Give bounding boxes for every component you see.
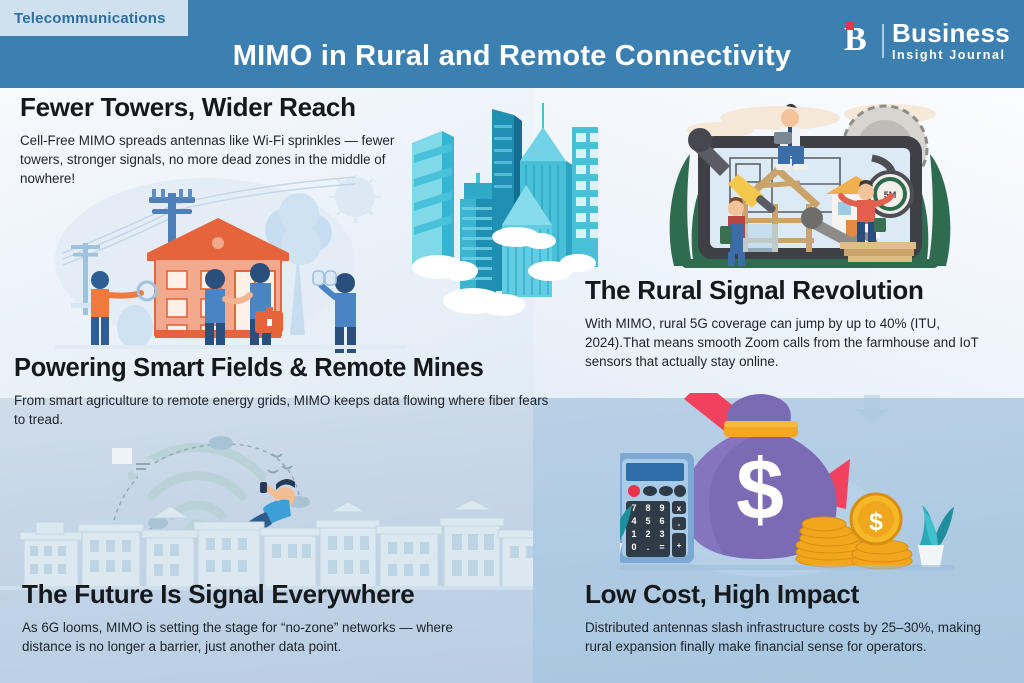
- svg-text:3: 3: [659, 529, 664, 539]
- svg-text:=: =: [659, 542, 664, 552]
- section-low-cost-high-impact: Low Cost, High Impact Distributed antenn…: [585, 580, 1005, 656]
- section-heading: Low Cost, High Impact: [585, 580, 1005, 609]
- section-rural-signal-revolution: The Rural Signal Revolution With MIMO, r…: [585, 276, 1005, 371]
- svg-text:-: -: [678, 520, 681, 529]
- section-body: With MIMO, rural 5G coverage can jump by…: [585, 314, 1005, 371]
- coin-dollar-symbol: $: [869, 508, 883, 536]
- section-heading: Powering Smart Fields & Remote Mines: [14, 354, 554, 382]
- city-skyline-illustration: [398, 95, 598, 370]
- section-future-is-signal-everywhere: The Future Is Signal Everywhere As 6G lo…: [22, 580, 462, 656]
- section-powering-smart-fields: Powering Smart Fields & Remote Mines Fro…: [14, 354, 554, 429]
- logo-divider: [882, 24, 884, 58]
- svg-text:6: 6: [659, 516, 664, 526]
- svg-text:x: x: [677, 504, 682, 513]
- wifi-icon: [132, 447, 262, 516]
- svg-text:+: +: [677, 541, 682, 550]
- logo-red-dot-icon: [846, 22, 854, 30]
- plant-right: [918, 505, 954, 567]
- tower-grid: [572, 127, 598, 267]
- brand-logo: B Business Insight Journal: [844, 20, 1010, 62]
- rural-house-illustration: [55, 175, 405, 355]
- section-body: Cell-Free MIMO spreads antennas like Wi-…: [20, 131, 420, 188]
- section-fewer-towers: Fewer Towers, Wider Reach Cell-Free MIMO…: [20, 93, 420, 188]
- logo-mark-icon: B: [844, 21, 874, 61]
- dollar-symbol: $: [736, 442, 784, 538]
- category-tag-label: Telecommunications: [14, 10, 166, 27]
- wood-planks: [840, 242, 916, 262]
- section-heading: The Future Is Signal Everywhere: [22, 580, 462, 609]
- logo-wordmark: Business Insight Journal: [892, 20, 1010, 62]
- svg-text:5: 5: [645, 516, 650, 526]
- construction-laptop-illustration: 5M: [660, 96, 960, 281]
- svg-text:8: 8: [645, 503, 650, 513]
- svg-text:2: 2: [645, 529, 650, 539]
- svg-text:9: 9: [659, 503, 664, 513]
- section-heading: Fewer Towers, Wider Reach: [20, 93, 420, 122]
- town-wifi-illustration: [0, 430, 533, 590]
- category-tag: Telecommunications: [0, 0, 188, 36]
- logo-tagline: Insight Journal: [892, 49, 1010, 62]
- svg-text:7: 7: [631, 503, 636, 513]
- section-heading: The Rural Signal Revolution: [585, 276, 1005, 305]
- infographic-page: Telecommunications MIMO in Rural and Rem…: [0, 0, 1024, 683]
- svg-text:.: .: [647, 542, 650, 552]
- section-body: Distributed antennas slash infrastructur…: [585, 618, 1005, 656]
- svg-text:1: 1: [631, 529, 636, 539]
- svg-text:4: 4: [631, 516, 636, 526]
- section-body: From smart agriculture to remote energy …: [14, 391, 554, 429]
- svg-text:0: 0: [631, 542, 636, 552]
- section-body: As 6G looms, MIMO is setting the stage f…: [22, 618, 462, 656]
- calculator-side-keys: x-+: [672, 501, 686, 557]
- logo-name: Business: [892, 20, 1010, 46]
- money-bag-illustration: $ 789 456 123: [620, 393, 955, 583]
- page-header: Telecommunications MIMO in Rural and Rem…: [0, 0, 1024, 88]
